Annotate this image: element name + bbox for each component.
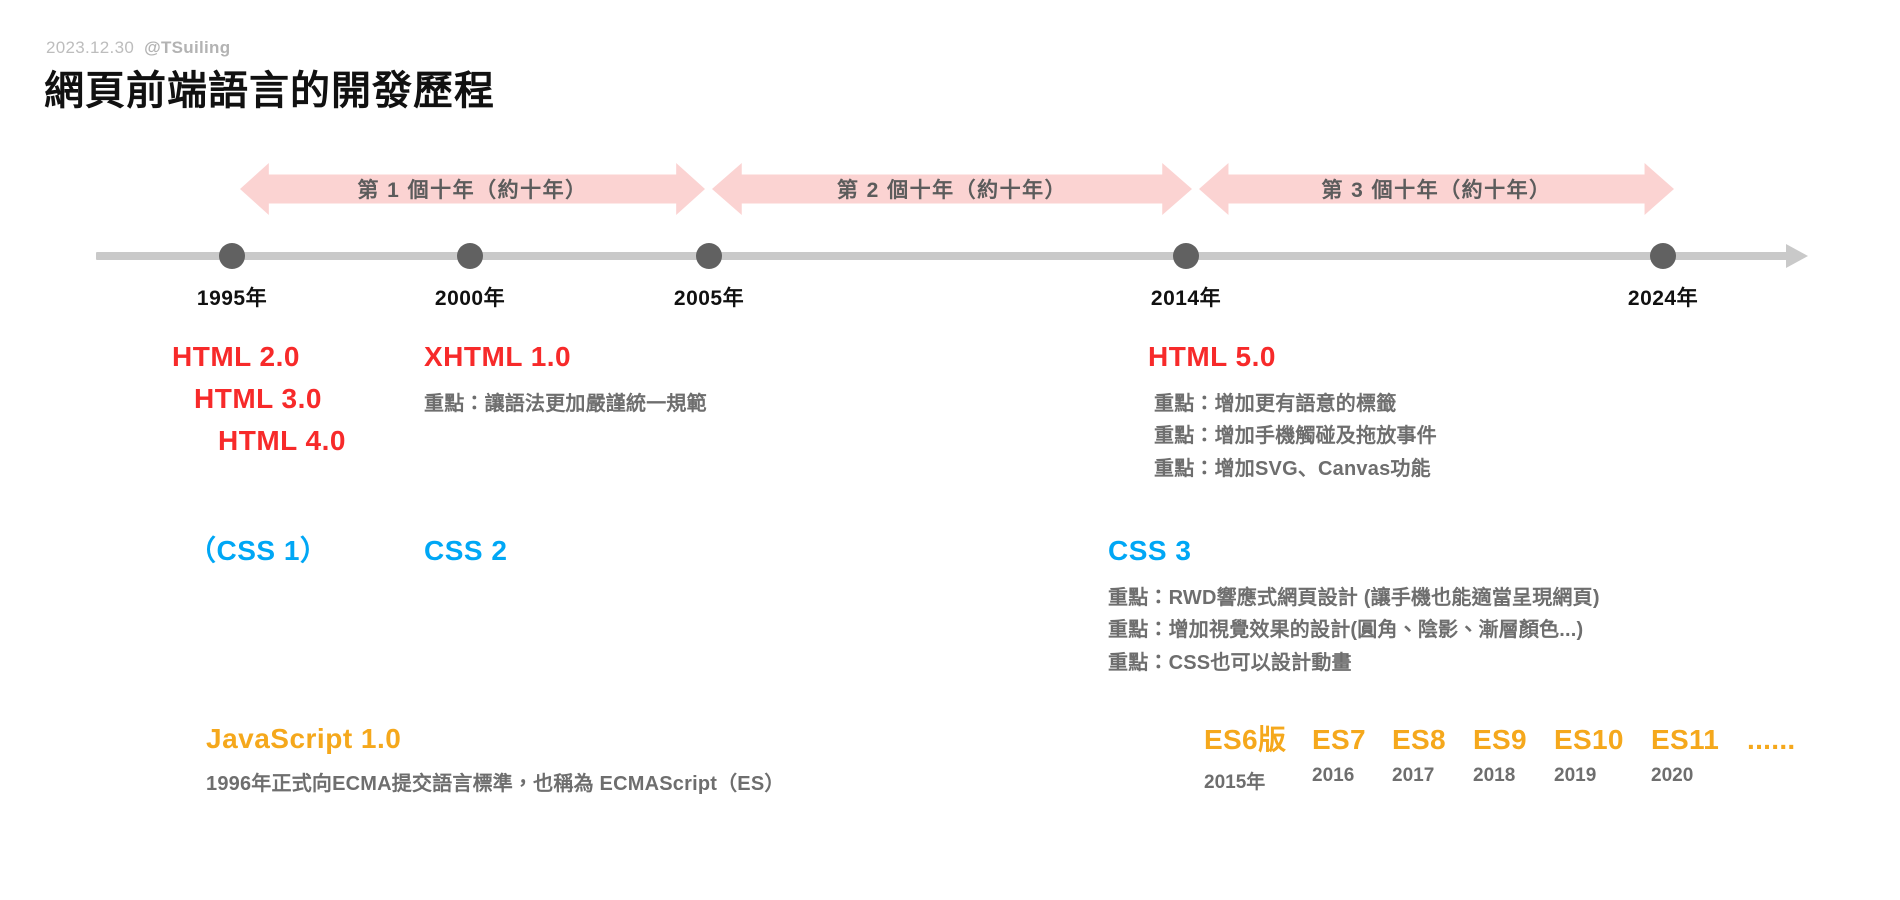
css3-title: CSS 3 (1108, 530, 1600, 572)
ecmascript-item: ES8 2017 (1392, 724, 1473, 787)
html-version-label: HTML 3.0 (194, 383, 322, 414)
timeline-infographic: 2023.12.30@TSuiling 網頁前端語言的開發歷程 第 1 個十年（… (0, 0, 1900, 900)
timeline-node (696, 243, 722, 269)
timeline-axis (96, 252, 1796, 260)
ecmascript-version-label: ES6版 (1204, 718, 1312, 758)
css1-block: （CSS 1） (188, 530, 328, 572)
decade-arrow-label: 第 2 個十年（約十年） (837, 174, 1067, 204)
timeline-node (1173, 243, 1199, 269)
css3-note: 重點：CSS也可以設計動畫 (1108, 647, 1600, 679)
timeline-year-label: 2005年 (674, 282, 744, 312)
byline: 2023.12.30@TSuiling (46, 38, 230, 58)
css3-note: 重點：增加視覺效果的設計(圓角、陰影、漸層顏色...) (1108, 614, 1600, 646)
xhtml-block: XHTML 1.0 重點：讓語法更加嚴謹統一規範 (424, 336, 707, 420)
ecmascript-version-label: ES9 (1473, 724, 1554, 756)
html-version-label: HTML 2.0 (172, 341, 300, 372)
css3-note: 重點：RWD響應式網頁設計 (讓手機也能適當呈現網頁) (1108, 582, 1600, 614)
html5-note: 重點：增加更有語意的標籤 (1154, 388, 1437, 420)
ecmascript-year-label: 2019 (1554, 765, 1651, 787)
ecmascript-version-label: ES8 (1392, 724, 1473, 756)
javascript-note: 1996年正式向ECMA提交語言標準，也稱為 ECMAScript（ES） (206, 768, 785, 800)
ecmascript-year-label: 2020 (1651, 765, 1747, 787)
timeline-node (1650, 243, 1676, 269)
javascript-block: JavaScript 1.0 1996年正式向ECMA提交語言標準，也稱為 EC… (206, 718, 785, 800)
ecmascript-item: ...... (1747, 724, 1795, 756)
timeline-year-label: 2000年 (435, 282, 505, 312)
ecmascript-version-label: ES10 (1554, 724, 1651, 756)
ecmascript-item: ES9 2018 (1473, 724, 1554, 787)
ecmascript-year-label: 2017 (1392, 765, 1473, 787)
html-version-label: HTML 4.0 (218, 425, 346, 456)
decade-arrow-2: 第 2 個十年（約十年） (712, 163, 1192, 215)
html5-note: 重點：增加手機觸碰及拖放事件 (1154, 420, 1437, 452)
ecmascript-item: ES7 2016 (1312, 724, 1392, 787)
ecmascript-year-label: 2018 (1473, 765, 1554, 787)
ecmascript-version-row: ES6版 2015年 ES7 2016 ES8 2017 ES9 2018 ES… (1204, 718, 1795, 794)
timeline-arrowhead-icon (1786, 244, 1808, 268)
ecmascript-block: ES6版 2015年 ES7 2016 ES8 2017 ES9 2018 ES… (1204, 718, 1795, 794)
ecmascript-version-label: ES7 (1312, 724, 1392, 756)
publish-date: 2023.12.30 (46, 38, 134, 57)
decade-arrow-label: 第 1 個十年（約十年） (357, 174, 587, 204)
html5-block: HTML 5.0 重點：增加更有語意的標籤 重點：增加手機觸碰及拖放事件 重點：… (1148, 336, 1437, 485)
xhtml-title: XHTML 1.0 (424, 336, 707, 378)
ecmascript-year-label: 2015年 (1204, 767, 1312, 794)
timeline-year-label: 1995年 (197, 282, 267, 312)
javascript-title: JavaScript 1.0 (206, 718, 785, 760)
html5-title: HTML 5.0 (1148, 336, 1437, 378)
html-early-versions-block: HTML 2.0 HTML 3.0 HTML 4.0 (172, 336, 346, 462)
timeline-year-label: 2024年 (1628, 282, 1698, 312)
page-title: 網頁前端語言的開發歷程 (44, 58, 495, 116)
css2-block: CSS 2 (424, 530, 507, 572)
ecmascript-year-label: 2016 (1312, 765, 1392, 787)
timeline-node (457, 243, 483, 269)
author-handle: @TSuiling (144, 38, 230, 57)
ecmascript-ellipsis-label: ...... (1747, 724, 1795, 756)
ecmascript-item: ES11 2020 (1651, 724, 1747, 787)
ecmascript-version-label: ES11 (1651, 724, 1747, 756)
decade-arrow-label: 第 3 個十年（約十年） (1321, 174, 1551, 204)
css3-block: CSS 3 重點：RWD響應式網頁設計 (讓手機也能適當呈現網頁) 重點：增加視… (1108, 530, 1600, 679)
decade-arrow-3: 第 3 個十年（約十年） (1199, 163, 1674, 215)
ecmascript-item: ES10 2019 (1554, 724, 1651, 787)
css1-title: （CSS 1） (188, 530, 328, 572)
timeline-node (219, 243, 245, 269)
ecmascript-item: ES6版 2015年 (1204, 718, 1312, 794)
html5-note: 重點：增加SVG、Canvas功能 (1154, 453, 1437, 485)
timeline-year-label: 2014年 (1151, 282, 1221, 312)
decade-arrow-1: 第 1 個十年（約十年） (240, 163, 705, 215)
decade-arrow-band: 第 1 個十年（約十年） 第 2 個十年（約十年） 第 3 個十年（約十年） (0, 163, 1900, 215)
css2-title: CSS 2 (424, 530, 507, 572)
xhtml-note: 重點：讓語法更加嚴謹統一規範 (424, 388, 707, 420)
